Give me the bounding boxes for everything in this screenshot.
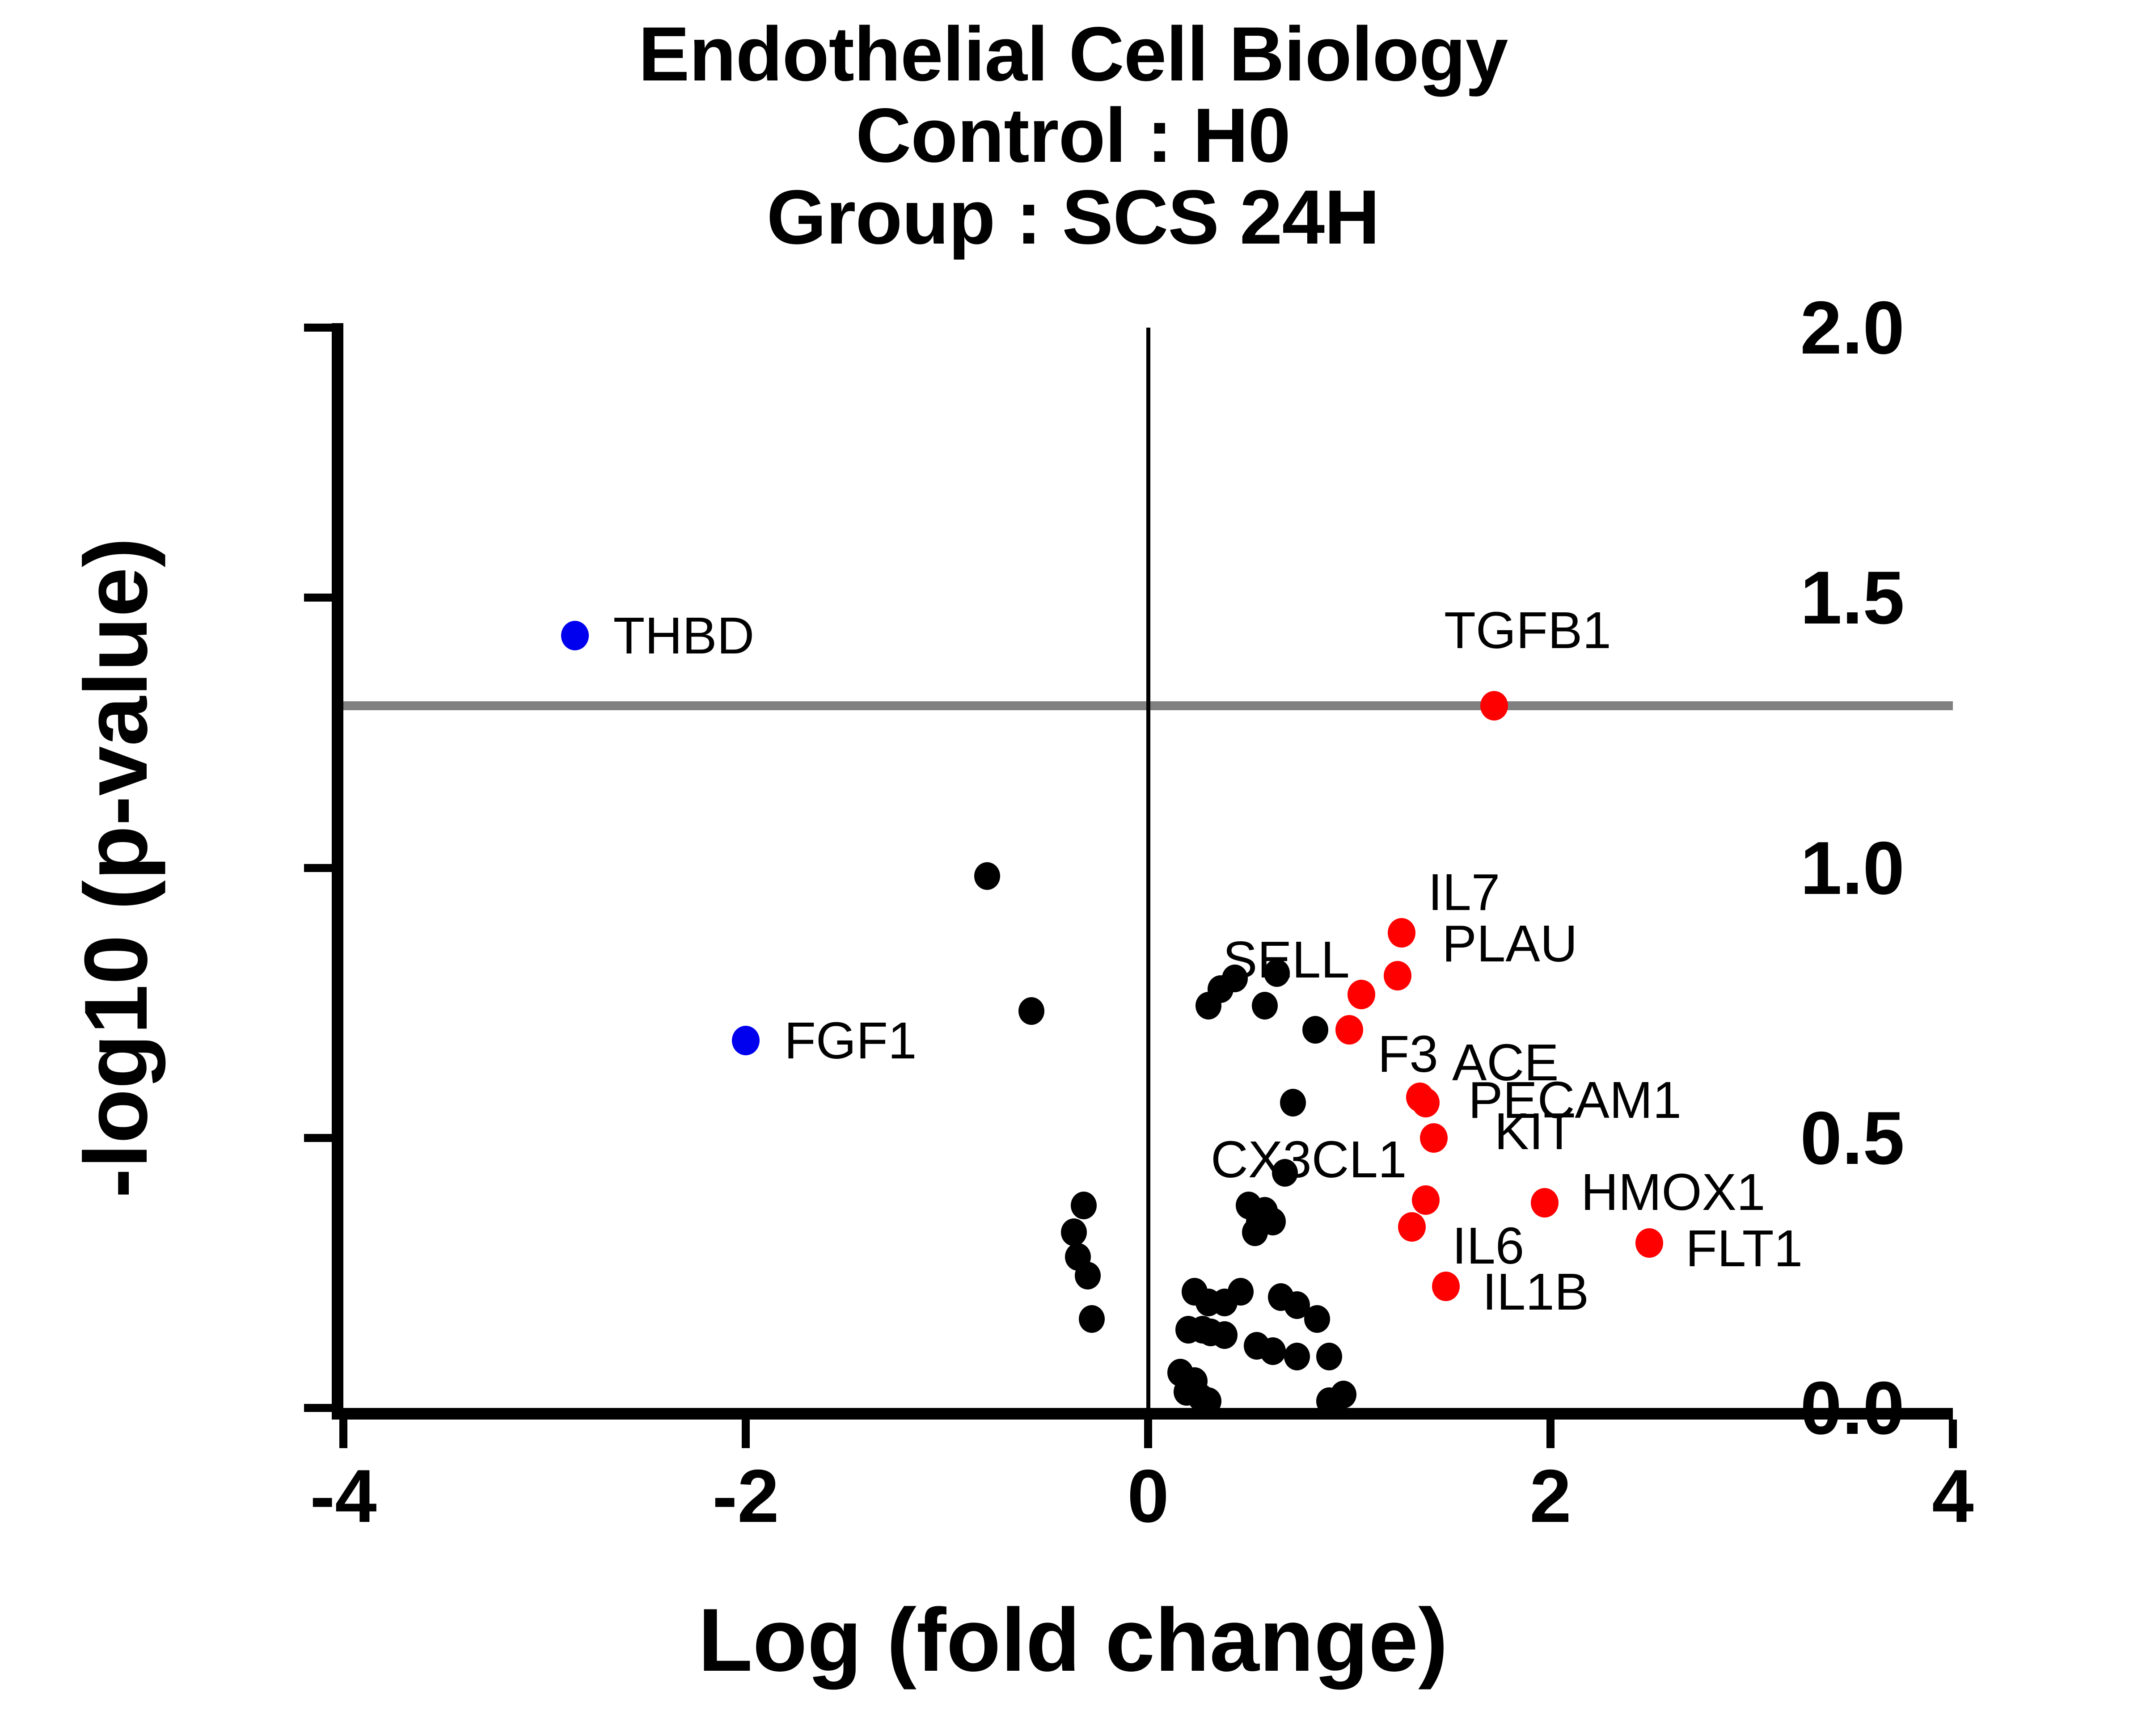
y-tick	[304, 1404, 332, 1412]
data-point-tgfb1[interactable]	[1480, 691, 1508, 721]
data-point-nonsignificant[interactable]	[1196, 992, 1221, 1020]
data-point-nonsignificant[interactable]	[1302, 1016, 1328, 1044]
y-axis-line	[332, 323, 343, 1412]
gene-label-plau: PLAU	[1442, 918, 1578, 969]
gene-label-il1b: IL1B	[1483, 1266, 1589, 1318]
volcano-plot-figure: Endothelial Cell Biology Control : H0 Gr…	[0, 0, 2146, 1736]
y-axis-title-wrapper: -log10 (p-value)	[72, 328, 170, 1408]
plot-area: 0.00.51.01.52.0 -4-2024 THBDFGF1TGFB1IL7…	[343, 328, 1953, 1408]
data-point-nonsignificant[interactable]	[974, 862, 1000, 890]
gene-label-kit: KIT	[1495, 1105, 1575, 1157]
y-tick-label: 1.0	[1699, 830, 1905, 906]
x-tick-label: -2	[656, 1458, 835, 1534]
gene-label-tgfb1: TGFB1	[1444, 604, 1611, 656]
data-point-nonsignificant[interactable]	[1331, 1381, 1356, 1408]
gene-label-f3: F3	[1378, 1028, 1438, 1080]
y-axis-title: -log10 (p-value)	[72, 328, 161, 1408]
y-tick-label: 1.5	[1699, 560, 1905, 635]
data-point-nonsignificant[interactable]	[1079, 1305, 1105, 1333]
data-point-nonsignificant[interactable]	[1018, 997, 1044, 1025]
data-point-fgf1[interactable]	[732, 1026, 760, 1055]
figure-title-block: Endothelial Cell Biology Control : H0 Gr…	[0, 13, 2146, 258]
data-point-nonsignificant[interactable]	[1304, 1305, 1330, 1333]
zero-fold-change-line	[1146, 328, 1150, 1408]
gene-label-hmox1: HMOX1	[1581, 1166, 1766, 1218]
gene-label-fgf1: FGF1	[784, 1015, 917, 1066]
gene-label-thbd: THBD	[613, 610, 755, 662]
data-point-flt1[interactable]	[1635, 1228, 1663, 1258]
x-tick-label: -4	[254, 1458, 433, 1534]
x-tick	[339, 1420, 347, 1448]
data-point-sell[interactable]	[1348, 980, 1375, 1009]
data-point-thbd[interactable]	[561, 621, 589, 650]
gene-label-flt1: FLT1	[1686, 1222, 1803, 1274]
data-point-nonsignificant[interactable]	[1075, 1262, 1101, 1289]
data-point-nonsignificant[interactable]	[1252, 992, 1278, 1020]
x-axis-title: Log (fold change)	[0, 1596, 2146, 1685]
data-point-nonsignificant[interactable]	[1071, 1192, 1097, 1219]
data-point-nonsignificant[interactable]	[1280, 1089, 1306, 1117]
data-point-cx3cl1[interactable]	[1412, 1185, 1440, 1215]
data-point-kit[interactable]	[1420, 1123, 1448, 1153]
figure-title-group: Group : SCS 24H	[0, 177, 2146, 258]
y-tick-label: 2.0	[1699, 290, 1905, 365]
y-tick-label: 0.0	[1699, 1370, 1905, 1445]
data-point-nonsignificant[interactable]	[1212, 1321, 1238, 1349]
x-tick	[1949, 1420, 1957, 1448]
data-point-nonsignificant[interactable]	[1228, 1278, 1254, 1306]
x-tick	[1546, 1420, 1555, 1448]
x-tick	[1144, 1420, 1152, 1448]
data-point-nonsignificant[interactable]	[1242, 1218, 1268, 1246]
x-tick-label: 4	[1863, 1458, 2042, 1534]
gene-label-il7: IL7	[1428, 866, 1500, 918]
data-point-nonsignificant[interactable]	[1061, 1218, 1087, 1246]
data-point-plau[interactable]	[1384, 961, 1411, 990]
data-point-il6[interactable]	[1398, 1212, 1426, 1242]
data-point-il7[interactable]	[1388, 918, 1415, 948]
y-tick	[304, 1134, 332, 1142]
data-point-f3[interactable]	[1335, 1015, 1363, 1045]
figure-title-main: Endothelial Cell Biology	[0, 13, 2146, 95]
data-point-il1b[interactable]	[1432, 1272, 1460, 1301]
data-point-nonsignificant[interactable]	[1284, 1343, 1310, 1370]
y-tick	[304, 594, 332, 602]
data-point-nonsignificant[interactable]	[1260, 1337, 1286, 1365]
y-tick	[304, 864, 332, 872]
x-tick	[742, 1420, 750, 1448]
gene-label-cx3cl1: CX3CL1	[1211, 1133, 1407, 1185]
y-tick	[304, 324, 332, 332]
gene-label-sell: SELL	[1223, 934, 1350, 986]
data-point-nonsignificant[interactable]	[1316, 1343, 1342, 1370]
x-tick-label: 0	[1059, 1458, 1238, 1534]
data-point-hmox1[interactable]	[1531, 1188, 1559, 1218]
data-point-pecam1[interactable]	[1412, 1088, 1440, 1117]
figure-title-control: Control : H0	[0, 95, 2146, 176]
x-tick-label: 2	[1461, 1458, 1640, 1534]
